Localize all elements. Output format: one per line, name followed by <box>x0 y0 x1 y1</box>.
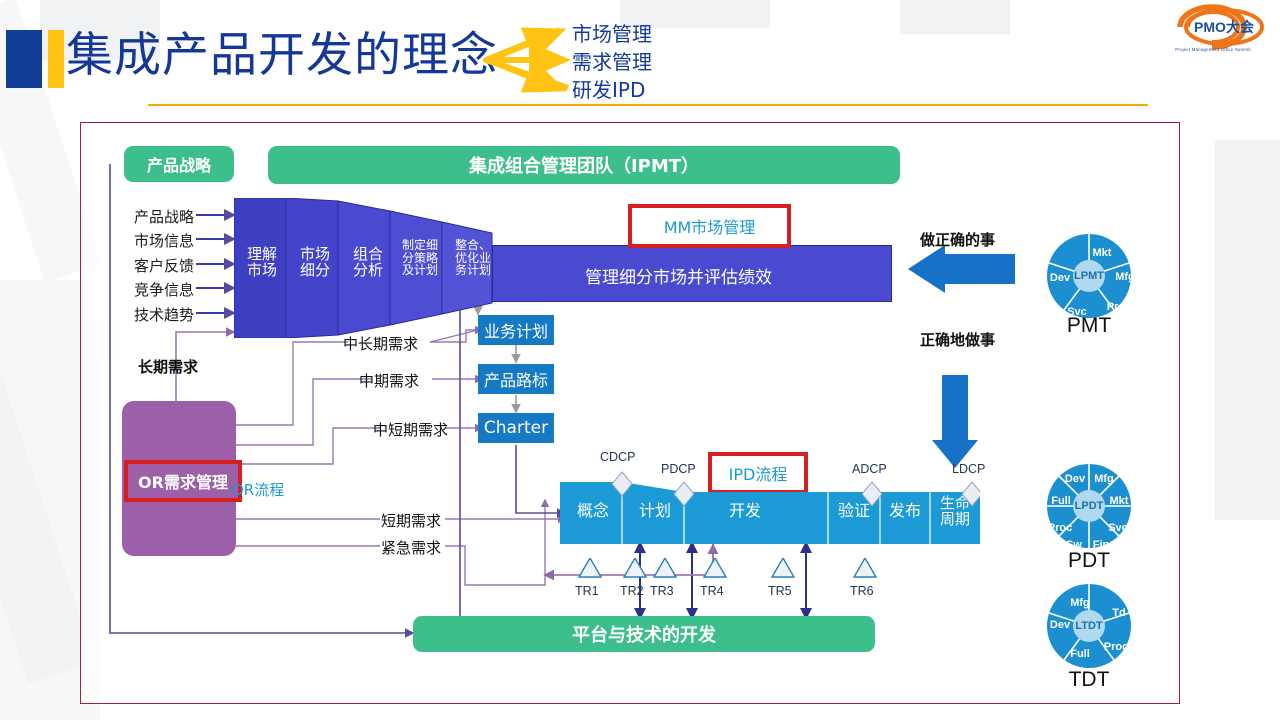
flow-box-charter[interactable]: Charter <box>478 413 554 443</box>
funnel-input-1: 市场信息 <box>96 230 194 251</box>
funnel-stage-4: 整合、优化业务计划 <box>448 239 498 277</box>
tdt-caption: TDT <box>1029 668 1149 692</box>
pdt-segment-1: Mfg <box>1094 473 1114 485</box>
platform-tech-dev-box[interactable]: 平台与技术的开发 <box>413 616 875 652</box>
ipmt-box[interactable]: 集成组合管理团队（IPMT） <box>268 146 900 184</box>
checkpoint-adcp: ADCP <box>852 462 887 476</box>
tr-label-5: TR6 <box>850 584 874 598</box>
pdt-segment-6: Proc <box>1048 522 1072 534</box>
tr-triangles <box>570 558 900 584</box>
funnel-stage-0: 理解市场 <box>238 247 286 279</box>
or-callout-box[interactable]: OR需求管理 <box>124 460 242 502</box>
funnel-input-3: 竞争信息 <box>96 279 194 300</box>
tr-label-4: TR5 <box>768 584 792 598</box>
demand-label-3: 短期需求 <box>381 510 441 531</box>
pmt-segment-0: Mkt <box>1093 247 1112 259</box>
flow-box-business-plan[interactable]: 业务计划 <box>478 315 554 345</box>
demand-label-0: 中长期需求 <box>343 333 418 354</box>
pdt-segment-2: Mkt <box>1110 495 1129 507</box>
note-do-things-right: 正确地做事 <box>920 329 995 350</box>
tdt-segment-3: Full <box>1070 648 1090 660</box>
checkpoint-ldcp: LDCP <box>952 462 985 476</box>
tdt-segment-1: Td <box>1112 607 1125 619</box>
tdt-hub-label: LTDT <box>1075 620 1102 632</box>
or-callout-label: OR需求管理 <box>138 469 228 493</box>
flow-box-product-roadmap[interactable]: 产品路标 <box>478 364 554 394</box>
funnel-stage-3: 制定细分策略及计划 <box>395 239 445 277</box>
checkpoint-cdcp: CDCP <box>600 450 635 464</box>
pdt-segment-7: Full <box>1051 495 1071 507</box>
demand-label-2: 中短期需求 <box>373 419 448 440</box>
checkpoint-pdcp: PDCP <box>661 462 696 476</box>
demand-label-4: 紧急需求 <box>381 537 441 558</box>
funnel-stage-1: 市场细分 <box>291 247 339 279</box>
mm-callout-box[interactable]: MM市场管理 <box>628 204 791 248</box>
pdt-segment-0: Dev <box>1065 473 1085 485</box>
tr-label-1: TR2 <box>620 584 644 598</box>
pmt-hub-label: LPMT <box>1074 270 1104 282</box>
pmt-caption: PMT <box>1029 314 1149 338</box>
tr-label-0: TR1 <box>575 584 599 598</box>
tdt-segment-0: Mfg <box>1070 597 1090 609</box>
funnel-stage-2: 组合分析 <box>344 247 392 279</box>
pdt-hub-label: LPDT <box>1075 500 1104 512</box>
note-do-right-things: 做正确的事 <box>920 229 995 250</box>
pmt-segment-2: Proc <box>1107 301 1131 313</box>
pdt-segment-3: Svc <box>1108 522 1128 534</box>
or-process-label: OR流程 <box>232 479 284 500</box>
demand-label-1: 中期需求 <box>359 370 419 391</box>
pmt-segment-4: Dev <box>1050 272 1070 284</box>
funnel-input-4: 技术趋势 <box>96 304 194 325</box>
funnel-input-0: 产品战略 <box>96 206 194 227</box>
tdt-segment-2: Proc <box>1104 641 1128 653</box>
pmt-segment-1: Mfg <box>1115 271 1135 283</box>
do-right-things-arrow <box>908 245 1015 293</box>
product-strategy-box[interactable]: 产品战略 <box>124 146 234 182</box>
tr-label-3: TR4 <box>700 584 724 598</box>
mm-band-label: 管理细分市场并评估绩效 <box>585 263 772 288</box>
tdt-segment-4: Dev <box>1050 619 1070 631</box>
long-term-demand-label: 长期需求 <box>138 356 198 377</box>
mm-callout-label: MM市场管理 <box>664 214 756 238</box>
pdt-caption: PDT <box>1029 549 1149 573</box>
funnel-input-2: 客户反馈 <box>96 255 194 276</box>
tr-label-2: TR3 <box>650 584 674 598</box>
